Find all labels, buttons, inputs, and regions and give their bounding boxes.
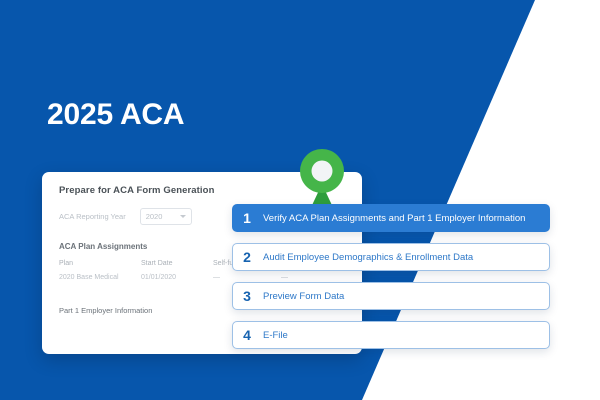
step-number-1: 1 (233, 210, 261, 226)
step-item-1[interactable]: 1 Verify ACA Plan Assignments and Part 1… (232, 204, 550, 232)
reporting-year-field: ACA Reporting Year 2020 (59, 208, 192, 225)
step-number-3: 3 (233, 288, 261, 304)
part1-employer-information-label: Part 1 Employer Information (59, 306, 152, 315)
step-item-3[interactable]: 3 Preview Form Data (232, 282, 550, 310)
step-label-4: E-File (261, 330, 288, 341)
column-header-plan: Plan (59, 256, 141, 273)
card-title: Prepare for ACA Form Generation (59, 185, 214, 196)
step-label-3: Preview Form Data (261, 291, 344, 302)
cell-start-date: 01/01/2020 (141, 273, 213, 283)
column-header-start-date: Start Date (141, 256, 213, 273)
step-item-2[interactable]: 2 Audit Employee Demographics & Enrollme… (232, 243, 550, 271)
plan-assignments-label: ACA Plan Assignments (59, 242, 147, 251)
step-number-2: 2 (233, 249, 261, 265)
step-item-4[interactable]: 4 E-File (232, 321, 550, 349)
reporting-year-value: 2020 (146, 212, 163, 221)
page-title-line-1: 2025 ACA (47, 95, 251, 135)
reporting-year-select[interactable]: 2020 (140, 208, 192, 225)
steps-list: 1 Verify ACA Plan Assignments and Part 1… (232, 204, 550, 360)
step-label-2: Audit Employee Demographics & Enrollment… (261, 252, 473, 263)
step-number-4: 4 (233, 327, 261, 343)
reporting-year-label: ACA Reporting Year (59, 212, 126, 221)
promo-banner: 2025 ACA Best Practices Prepare for ACA … (0, 0, 600, 400)
chevron-down-icon (180, 215, 186, 218)
cell-plan: 2020 Base Medical (59, 273, 141, 283)
step-label-1: Verify ACA Plan Assignments and Part 1 E… (261, 213, 525, 224)
